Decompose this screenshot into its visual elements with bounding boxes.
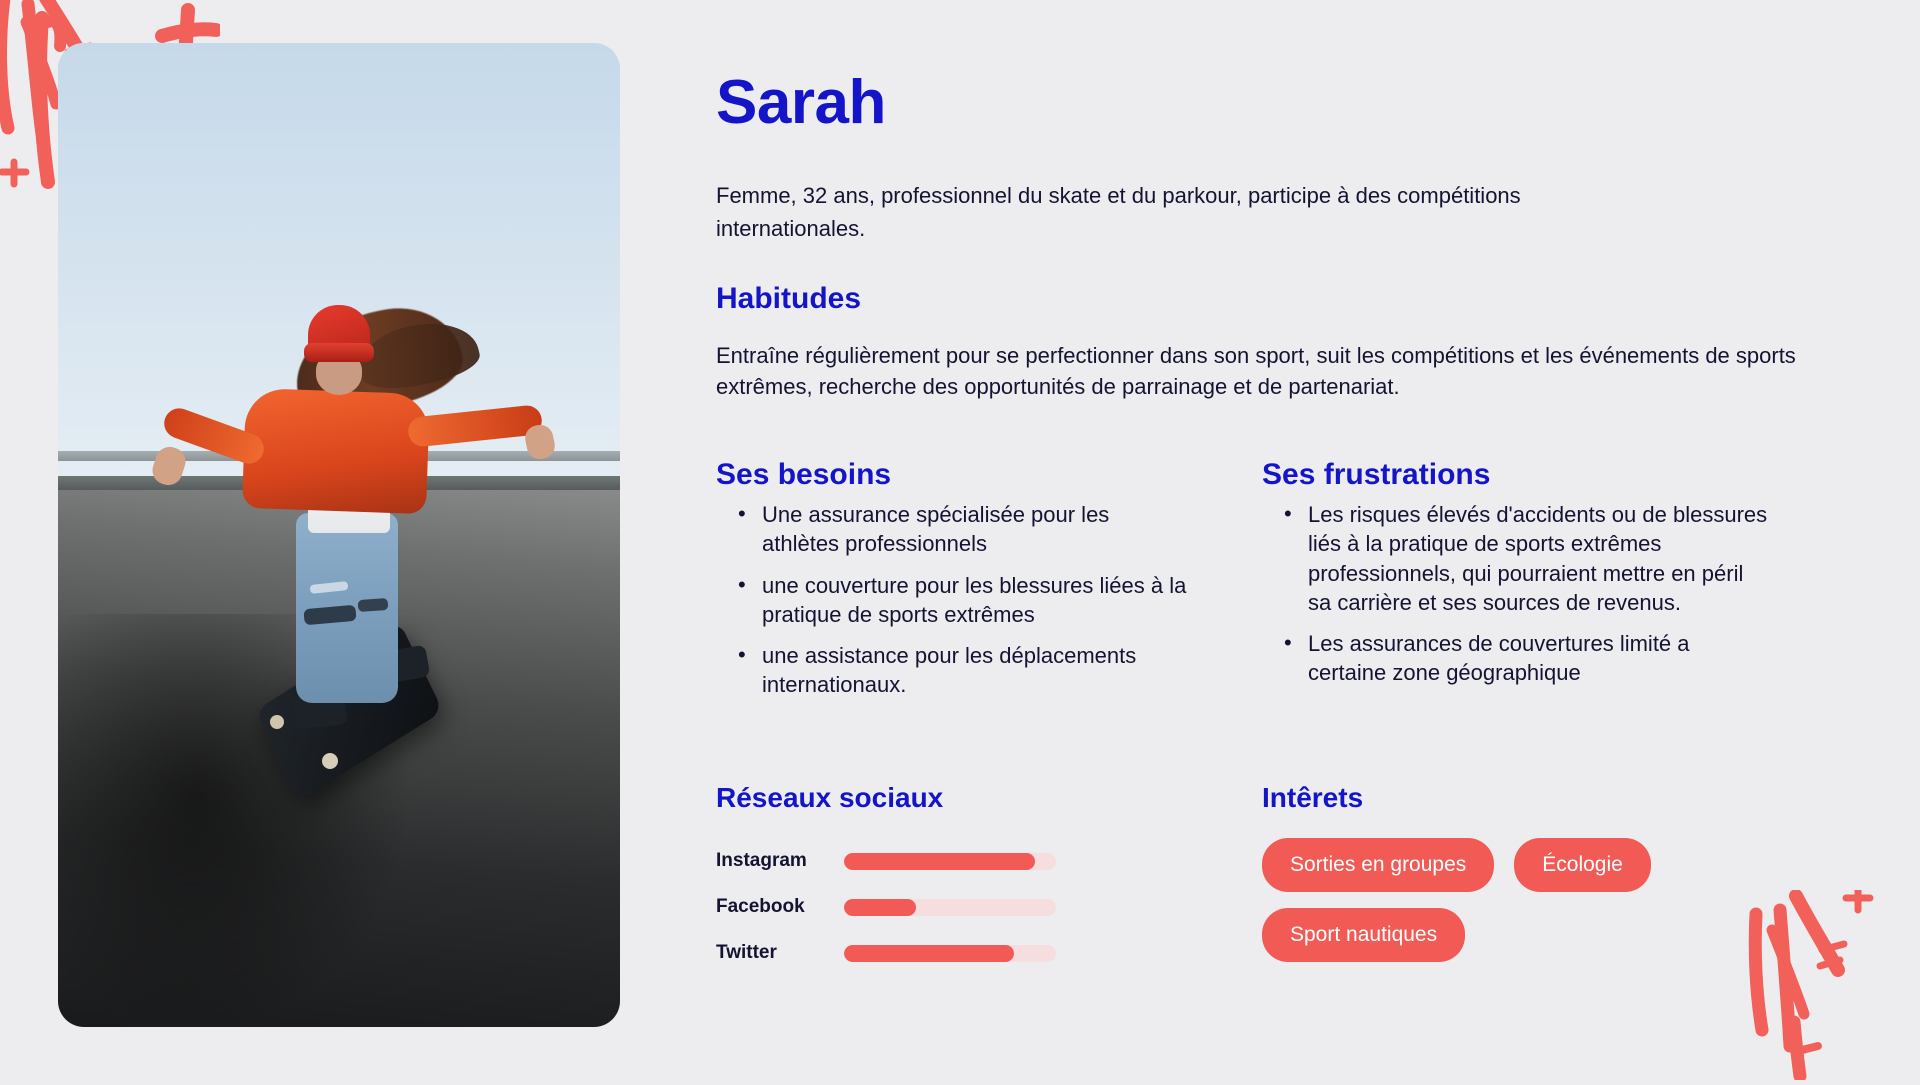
- persona-intro: Femme, 32 ans, professionnel du skate et…: [716, 180, 1616, 245]
- frustrations-list: Les risques élevés d'accidents ou de ble…: [1262, 500, 1768, 700]
- interest-tag[interactable]: Écologie: [1514, 838, 1651, 892]
- jeans-rip: [358, 598, 389, 612]
- list-item: Une assurance spécialisée pour les athlè…: [762, 500, 1192, 559]
- progress-track-twitter: [844, 945, 1056, 962]
- besoins-list: Une assurance spécialisée pour les athlè…: [716, 500, 1192, 712]
- list-item: une couverture pour les blessures liées …: [762, 571, 1192, 630]
- progress-fill-twitter: [844, 945, 1014, 962]
- list-item: Les assurances de couvertures limité a c…: [1308, 629, 1768, 688]
- persona-photo: [58, 43, 620, 1027]
- persona-card-page: Sarah Femme, 32 ans, professionnel du sk…: [0, 0, 1920, 1080]
- skateboard-wheel: [270, 715, 284, 729]
- list-item: Les risques élevés d'accidents ou de ble…: [1308, 500, 1768, 617]
- skater-jacket: [242, 388, 430, 514]
- progress-fill-facebook: [844, 899, 916, 916]
- social-row-facebook: Facebook: [716, 884, 1136, 930]
- habitudes-body: Entraîne régulièrement pour se perfectio…: [716, 340, 1826, 402]
- progress-track-facebook: [844, 899, 1056, 916]
- social-row-instagram: Instagram: [716, 838, 1136, 884]
- progress-fill-instagram: [844, 853, 1035, 870]
- social-row-twitter: Twitter: [716, 930, 1136, 976]
- section-title-reseaux-sociaux: Réseaux sociaux: [716, 782, 943, 814]
- section-title-besoins: Ses besoins: [716, 458, 891, 492]
- skateboard-wheel: [322, 753, 338, 769]
- progress-track-instagram: [844, 853, 1056, 870]
- persona-name: Sarah: [716, 72, 886, 134]
- skater-beanie-brim: [304, 343, 374, 362]
- section-title-habitudes: Habitudes: [716, 282, 861, 316]
- social-label: Facebook: [716, 896, 844, 918]
- interest-tags: Sorties en groupes Écologie Sport nautiq…: [1262, 838, 1732, 962]
- social-label: Instagram: [716, 850, 844, 872]
- interest-tag[interactable]: Sport nautiques: [1262, 908, 1465, 962]
- interest-tag[interactable]: Sorties en groupes: [1262, 838, 1494, 892]
- social-label: Twitter: [716, 942, 844, 964]
- section-title-frustrations: Ses frustrations: [1262, 458, 1490, 492]
- social-meters: Instagram Facebook Twitter: [716, 838, 1136, 976]
- section-title-interets: Intêrets: [1262, 782, 1363, 814]
- persona-content: Sarah Femme, 32 ans, professionnel du sk…: [716, 0, 1866, 1080]
- list-item: une assistance pour les déplacements int…: [762, 641, 1192, 700]
